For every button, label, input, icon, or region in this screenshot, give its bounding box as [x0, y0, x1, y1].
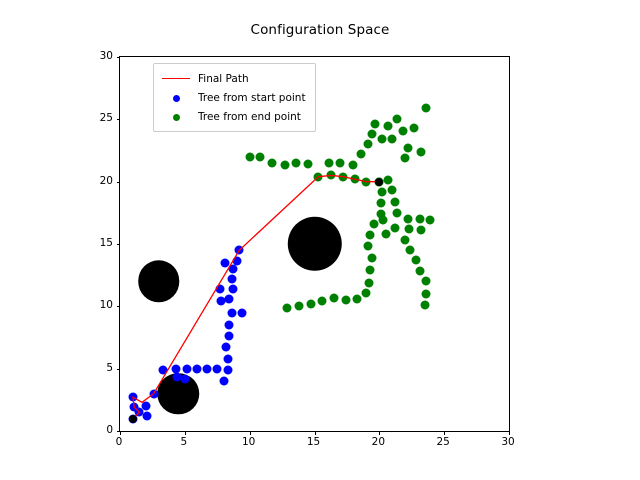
- tree-node: [422, 104, 431, 113]
- y-tick-mark: [117, 306, 121, 307]
- y-tick-mark: [117, 182, 121, 183]
- tree-node: [422, 277, 431, 286]
- tree-node: [280, 161, 289, 170]
- tree-node: [366, 231, 375, 240]
- tree-node: [416, 226, 425, 235]
- tree-node: [183, 364, 192, 373]
- y-tick-label: 30: [100, 50, 113, 62]
- tree-node: [415, 267, 424, 276]
- y-tick-mark: [117, 57, 121, 58]
- tree-node: [227, 274, 236, 283]
- tree-node: [339, 172, 348, 181]
- figure-canvas: Configuration Space 051015202530 0510152…: [0, 0, 640, 480]
- tree-node: [376, 198, 385, 207]
- tree-node: [221, 258, 230, 267]
- legend-item-tree-from-start: Tree from start point: [160, 88, 306, 107]
- tree-node: [318, 297, 327, 306]
- x-axis-tick-labels: 051015202530: [119, 436, 508, 452]
- tree-node: [141, 402, 150, 411]
- tree-node: [232, 257, 241, 266]
- tree-node: [245, 152, 254, 161]
- tree-node: [388, 135, 397, 144]
- tree-node: [143, 412, 152, 421]
- tree-node: [362, 288, 371, 297]
- tree-node: [324, 158, 333, 167]
- x-tick-label: 30: [501, 436, 514, 448]
- tree-node: [267, 158, 276, 167]
- tree-node: [336, 158, 345, 167]
- tree-node: [180, 374, 189, 383]
- tree-node: [349, 161, 358, 170]
- tree-node: [401, 153, 410, 162]
- chart-legend: Final Path Tree from start point Tree fr…: [153, 63, 316, 132]
- tree-node: [390, 197, 399, 206]
- x-tick-mark: [315, 431, 316, 435]
- tree-node: [149, 389, 158, 398]
- tree-node: [416, 147, 425, 156]
- y-tick-label: 0: [106, 424, 113, 436]
- dot-marker-icon: [160, 91, 192, 105]
- x-tick-mark: [379, 431, 380, 435]
- tree-node: [228, 284, 237, 293]
- tree-node: [357, 150, 366, 159]
- tree-node: [393, 115, 402, 124]
- legend-label: Tree from end point: [198, 111, 301, 123]
- tree-node: [379, 216, 388, 225]
- tree-node: [401, 236, 410, 245]
- tree-node: [377, 135, 386, 144]
- tree-node: [362, 177, 371, 186]
- x-tick-mark: [509, 431, 510, 435]
- tree-node: [363, 140, 372, 149]
- tree-node: [227, 308, 236, 317]
- y-axis-tick-labels: 051015202530: [86, 56, 113, 430]
- tree-node: [411, 256, 420, 265]
- legend-label: Final Path: [198, 73, 249, 85]
- x-tick-label: 0: [116, 436, 123, 448]
- tree-node: [425, 216, 434, 225]
- x-tick-mark: [250, 431, 251, 435]
- tree-node: [235, 246, 244, 255]
- tree-node: [381, 230, 390, 239]
- tree-node: [256, 152, 265, 161]
- legend-label: Tree from start point: [198, 92, 306, 104]
- tree-node: [224, 321, 233, 330]
- tree-node: [237, 308, 246, 317]
- x-tick-mark: [444, 431, 445, 435]
- tree-node: [222, 343, 231, 352]
- tree-node: [405, 225, 414, 234]
- page-title: Configuration Space: [0, 22, 640, 38]
- tree-node: [294, 302, 303, 311]
- tree-node: [422, 289, 431, 298]
- tree-node: [223, 354, 232, 363]
- y-tick-label: 25: [100, 112, 113, 124]
- tree-node: [304, 160, 313, 169]
- tree-node: [370, 220, 379, 229]
- x-tick-label: 20: [372, 436, 385, 448]
- tree-node: [406, 246, 415, 255]
- tree-node: [384, 176, 393, 185]
- tree-node: [306, 299, 315, 308]
- tree-node: [420, 301, 429, 310]
- obstacle-circle: [138, 261, 179, 302]
- tree-node: [223, 365, 232, 374]
- line-marker-icon: [160, 72, 192, 86]
- tree-node: [393, 208, 402, 217]
- tree-node: [327, 171, 336, 180]
- tree-node: [366, 266, 375, 275]
- x-tick-label: 15: [307, 436, 320, 448]
- tree-node: [403, 144, 412, 153]
- tree-node: [224, 332, 233, 341]
- plot-axes: Final Path Tree from start point Tree fr…: [119, 56, 510, 432]
- tree-node: [314, 172, 323, 181]
- tree-node: [367, 130, 376, 139]
- start-point: [129, 415, 137, 423]
- y-tick-label: 20: [100, 175, 113, 187]
- tree-node: [415, 215, 424, 224]
- tree-node: [202, 364, 211, 373]
- tree-node: [367, 253, 376, 262]
- tree-node: [192, 364, 201, 373]
- tree-node: [224, 294, 233, 303]
- dot-marker-icon: [160, 110, 192, 124]
- y-tick-mark: [117, 369, 121, 370]
- tree-node: [158, 365, 167, 374]
- tree-node: [215, 284, 224, 293]
- tree-node: [384, 121, 393, 130]
- x-tick-label: 5: [180, 436, 187, 448]
- tree-node: [283, 303, 292, 312]
- y-tick-label: 15: [100, 237, 113, 249]
- y-tick-label: 10: [100, 299, 113, 311]
- tree-node: [171, 364, 180, 373]
- x-tick-mark: [185, 431, 186, 435]
- x-tick-mark: [120, 431, 121, 435]
- y-tick-mark: [117, 244, 121, 245]
- tree-node: [363, 242, 372, 251]
- x-tick-label: 25: [436, 436, 449, 448]
- tree-node: [388, 186, 397, 195]
- legend-item-tree-from-end: Tree from end point: [160, 107, 306, 126]
- end-point: [375, 178, 383, 186]
- tree-node: [219, 377, 228, 386]
- tree-node: [213, 364, 222, 373]
- x-tick-label: 10: [242, 436, 255, 448]
- obstacle-circle: [287, 217, 341, 271]
- tree-node: [329, 293, 338, 302]
- tree-node: [128, 393, 137, 402]
- tree-node: [364, 278, 373, 287]
- tree-node: [292, 158, 301, 167]
- tree-node: [371, 120, 380, 129]
- tree-node: [341, 296, 350, 305]
- tree-node: [398, 126, 407, 135]
- tree-node: [377, 187, 386, 196]
- y-tick-label: 5: [106, 362, 113, 374]
- tree-node: [353, 294, 362, 303]
- legend-item-final-path: Final Path: [160, 69, 306, 88]
- tree-node: [403, 215, 412, 224]
- tree-node: [390, 223, 399, 232]
- tree-node: [350, 175, 359, 184]
- tree-node: [410, 124, 419, 133]
- y-tick-mark: [117, 119, 121, 120]
